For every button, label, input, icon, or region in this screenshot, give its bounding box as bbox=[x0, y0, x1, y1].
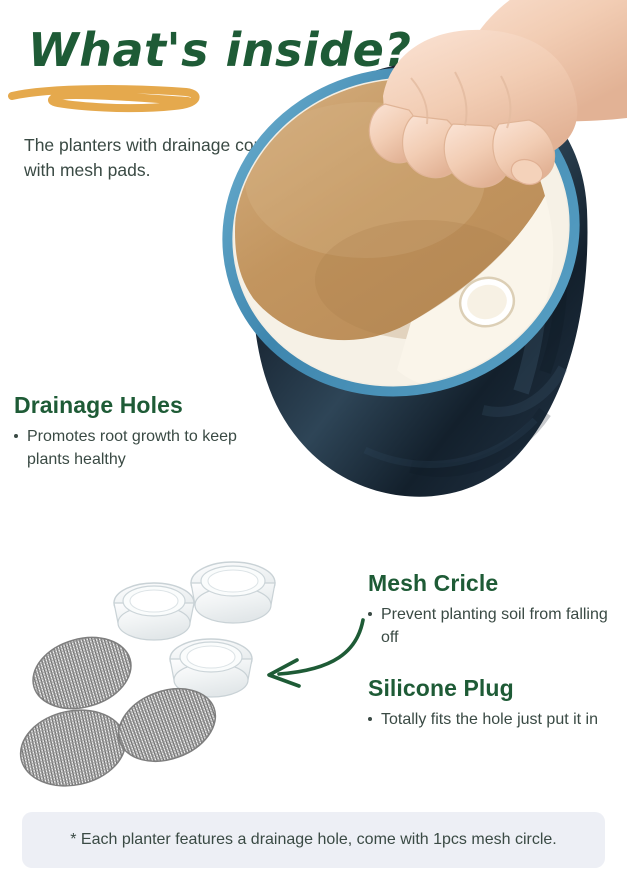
curved-arrow-pointing-left bbox=[245, 612, 375, 692]
section-heading: Mesh Cricle bbox=[368, 570, 618, 597]
silicone-plug bbox=[114, 583, 194, 640]
section-mesh-circle: Mesh Cricle Prevent planting soil from f… bbox=[368, 570, 618, 649]
bullet-list: Promotes root growth to keep plants heal… bbox=[14, 426, 264, 471]
infographic-page: What's inside? The planters with drainag… bbox=[0, 0, 627, 879]
bullet-text: Prevent planting soil from falling off bbox=[381, 606, 608, 646]
list-item: Promotes root growth to keep plants heal… bbox=[14, 426, 264, 471]
mesh-circle bbox=[25, 627, 140, 720]
bullet-text: Promotes root growth to keep plants heal… bbox=[27, 428, 237, 468]
planter-photo bbox=[215, 0, 627, 520]
bullet-list: Prevent planting soil from falling off bbox=[368, 604, 618, 649]
section-heading: Silicone Plug bbox=[368, 675, 618, 702]
bullet-dot bbox=[14, 434, 18, 438]
list-item: Prevent planting soil from falling off bbox=[368, 604, 618, 649]
list-item: Totally fits the hole just put it in bbox=[368, 709, 618, 732]
bullet-dot bbox=[368, 717, 372, 721]
bullet-text: Totally fits the hole just put it in bbox=[381, 711, 598, 728]
section-silicone-plug: Silicone Plug Totally fits the hole just… bbox=[368, 675, 618, 732]
footer-note-text: * Each planter features a drainage hole,… bbox=[44, 829, 582, 851]
hand-holding-planter bbox=[369, 0, 627, 188]
mesh-circle bbox=[13, 701, 132, 795]
footer-note-box: * Each planter features a drainage hole,… bbox=[22, 812, 605, 868]
section-heading: Drainage Holes bbox=[14, 392, 264, 419]
title-underline-swoosh bbox=[6, 82, 221, 116]
bullet-dot bbox=[368, 612, 372, 616]
section-drainage-holes: Drainage Holes Promotes root growth to k… bbox=[14, 392, 264, 471]
bullet-list: Totally fits the hole just put it in bbox=[368, 709, 618, 732]
